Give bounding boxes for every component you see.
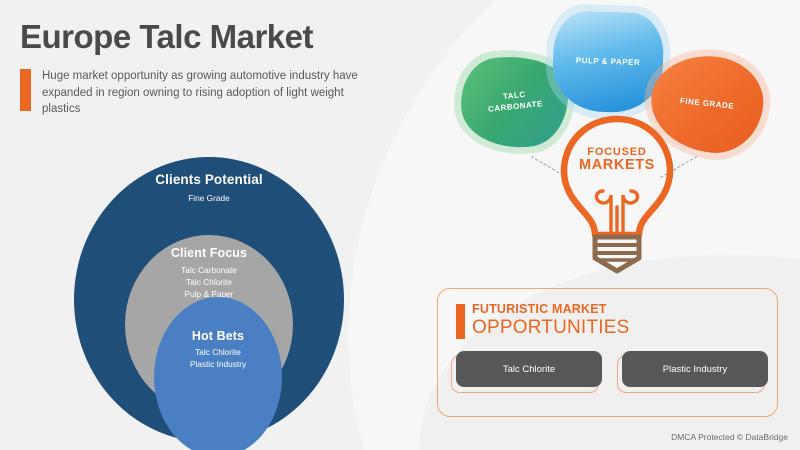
circle-outer-title: Clients Potential	[155, 172, 262, 187]
panel-title-line1: FUTURISTIC MARKET	[472, 303, 629, 316]
bulb-caption: FOCUSED MARKETS	[555, 146, 679, 174]
circle-middle-items: Talc Carbonate Talc Chlorite Pulp & Pape…	[181, 265, 237, 300]
lightbulb-icon: FOCUSED MARKETS	[555, 113, 679, 278]
bulb-filament-right	[623, 191, 638, 233]
lightbulb-svg	[555, 113, 679, 278]
panel-heading: FUTURISTIC MARKET OPPORTUNITIES	[456, 303, 629, 339]
opportunity-chip-list: Talc Chlorite Plastic Industry	[456, 351, 768, 387]
circle-inner-title: Hot Bets	[192, 329, 244, 343]
chip-talc-chlorite[interactable]: Talc Chlorite	[456, 351, 602, 387]
focused-markets-cluster: TALC CARBONATE PULP & PAPER FINE GRADE	[455, 8, 785, 278]
concentric-circles-diagram: Clients Potential Fine Grade Client Focu…	[74, 157, 344, 427]
bulb-caption-line2: MARKETS	[555, 158, 679, 174]
subtitle-accent-bar	[20, 69, 31, 111]
chip-wrapper-plastic-industry: Plastic Industry	[622, 351, 768, 387]
bulb-filament-left	[596, 191, 611, 233]
subtitle-block: Huge market opportunity as growing autom…	[20, 68, 372, 118]
page-title: Europe Talc Market	[20, 20, 313, 55]
footer-copyright: DMCA Protected © DataBridge	[671, 432, 788, 442]
panel-title-stack: FUTURISTIC MARKET OPPORTUNITIES	[472, 303, 629, 337]
circle-middle-title: Client Focus	[171, 246, 247, 260]
futuristic-opportunities-panel: FUTURISTIC MARKET OPPORTUNITIES Talc Chl…	[437, 288, 778, 417]
subtitle-text: Huge market opportunity as growing autom…	[42, 68, 372, 118]
circle-inner-items: Talc Chlorite Plastic Industry	[190, 347, 246, 371]
panel-title-line2: OPPORTUNITIES	[472, 318, 629, 337]
infographic-canvas: Europe Talc Market Huge market opportuni…	[0, 0, 800, 450]
circle-hot-bets: Hot Bets Talc Chlorite Plastic Industry	[154, 297, 282, 450]
circle-outer-items: Fine Grade	[188, 193, 230, 205]
chip-plastic-industry[interactable]: Plastic Industry	[622, 351, 768, 387]
panel-accent-bar	[456, 304, 465, 339]
chip-wrapper-talc-chlorite: Talc Chlorite	[456, 351, 602, 387]
